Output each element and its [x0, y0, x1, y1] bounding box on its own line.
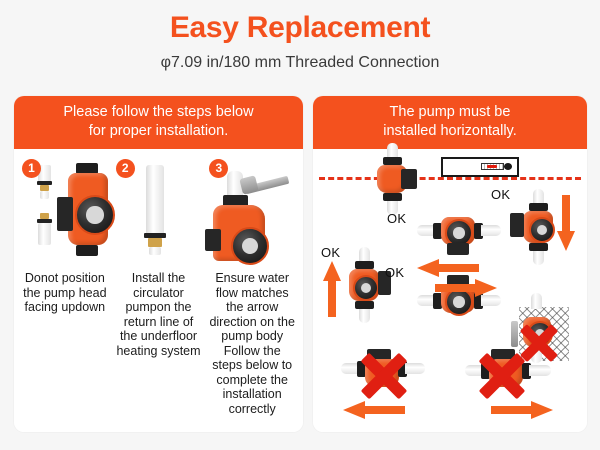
- page-title: Easy Replacement: [0, 10, 600, 46]
- step-item-2: 2 Install the circulator pumpon the retu…: [112, 153, 206, 432]
- ok-v-pump-port-bottom: [529, 243, 548, 251]
- x-marker-left-pump: [341, 345, 431, 397]
- ok-l-pump-top-pipe: [359, 247, 370, 261]
- pump-horizontal-ok-middle: [417, 207, 503, 255]
- ok-l-pump-port-bottom: [355, 301, 374, 309]
- left-panel-header: Please follow the steps below for proper…: [14, 96, 303, 149]
- ref-pump-top-pipe: [387, 143, 398, 157]
- pump-junction-box: [57, 197, 73, 231]
- x-r-pump-right-pipe: [529, 365, 551, 376]
- ref-pump-port-bottom: [383, 193, 402, 201]
- arrow-left-bottom: [343, 401, 405, 419]
- left-panel-header-line1: Please follow the steps below: [20, 103, 297, 122]
- ok-lm-pump-hub: [453, 296, 465, 308]
- level-bubble: [487, 165, 497, 169]
- ref-pump-junction-box: [401, 169, 417, 189]
- pipe-brass-nut: [148, 238, 162, 247]
- pump-junction-box-angled: [205, 229, 221, 251]
- installation-steps-panel: Please follow the steps below for proper…: [14, 96, 303, 432]
- left-panel-body: 1: [14, 149, 303, 432]
- step-caption-1: Donot position the pump head facing updo…: [18, 271, 112, 315]
- ok-v-pump-top-pipe: [533, 189, 544, 203]
- step-item-3: 3 Ensure water flow matches the arrow di…: [205, 153, 299, 432]
- steps-list: 1: [14, 149, 303, 432]
- pump-vertical-ok-left: [341, 253, 399, 323]
- ref-pump-port-top: [383, 157, 402, 165]
- fitting-upper-tail: [40, 191, 49, 199]
- pump-face-hub: [86, 206, 103, 223]
- arrow-up-left: [323, 261, 341, 317]
- left-panel-header-line2: for proper installation.: [20, 122, 297, 141]
- ok-m-pump-box: [447, 243, 469, 255]
- step-badge-2: 2: [116, 159, 135, 178]
- pump-wrench-tighten-figure: 3: [205, 153, 299, 271]
- reference-pump-horizontal: [369, 151, 425, 207]
- pipe-vertical-body: [146, 165, 164, 235]
- right-panel-header-line2: installed horizontally.: [319, 122, 581, 141]
- ok-marker-lower-middle: OK: [385, 265, 404, 280]
- orientation-guide-panel: The pump must be installed horizontally.: [313, 96, 587, 432]
- step-caption-3: Ensure water flow matches the arrow dire…: [205, 271, 299, 416]
- step-badge-1: 1: [22, 159, 41, 178]
- ok-l-pump-hub: [361, 283, 372, 294]
- spirit-level-icon: [441, 157, 519, 177]
- pump-motor-face-angled: [231, 227, 269, 265]
- circulator-pump-image: [58, 163, 114, 263]
- ok-l-pump-bottom-pipe: [359, 309, 370, 323]
- ok-l-pump-face: [353, 275, 379, 301]
- white-pipe-fitting-figure: 2: [112, 153, 206, 271]
- ok-marker-left: OK: [321, 245, 340, 260]
- arrow-right-bottom: [491, 401, 553, 419]
- ok-v-pump-face: [529, 217, 555, 243]
- pump-with-fittings-figure: 1: [18, 153, 112, 271]
- step-badge-3: 3: [209, 159, 228, 178]
- pipe-tail: [149, 247, 161, 255]
- right-panel-header-line1: The pump must be: [319, 103, 581, 122]
- level-end-knob: [504, 163, 512, 170]
- ok-v-pump-hub: [537, 225, 548, 236]
- step-caption-2: Install the circulator pumpon the return…: [112, 271, 206, 358]
- right-panel-header: The pump must be installed horizontally.: [313, 96, 587, 149]
- pump-face-hub-angled: [242, 238, 258, 254]
- horizontal-level-dashed-line: [319, 177, 581, 180]
- page-subtitle: φ7.09 in/180 mm Threaded Connection: [0, 52, 600, 74]
- ok-v-pump-box: [510, 213, 524, 237]
- ok-marker-top-right: OK: [491, 187, 510, 202]
- right-panel-body: OK OK: [313, 149, 587, 432]
- page-header: Easy Replacement φ7.09 in/180 mm Threade…: [0, 0, 600, 74]
- pump-motor-face: [75, 195, 115, 235]
- ok-marker-middle: OK: [387, 211, 406, 226]
- arrow-down-right: [557, 195, 575, 251]
- panels-container: Please follow the steps below for proper…: [0, 96, 600, 436]
- arrow-right-middle: [435, 279, 497, 297]
- level-vial: [481, 163, 503, 171]
- x-v-pump-top-pipe: [531, 293, 542, 309]
- step-item-1: 1: [18, 153, 112, 432]
- ok-v-pump-port-top: [529, 203, 548, 211]
- fitting-lower-body: [38, 223, 51, 245]
- x-icon-right: [475, 349, 529, 403]
- x-marker-right-pump: [465, 347, 555, 399]
- pump-port-bottom: [76, 245, 98, 256]
- x-icon-left: [357, 349, 411, 403]
- ok-l-pump-port-top: [355, 261, 374, 269]
- ok-m-pump-right-pipe: [481, 225, 501, 236]
- ok-m-pump-hub: [453, 227, 465, 239]
- ok-v-pump-bottom-pipe: [533, 251, 544, 265]
